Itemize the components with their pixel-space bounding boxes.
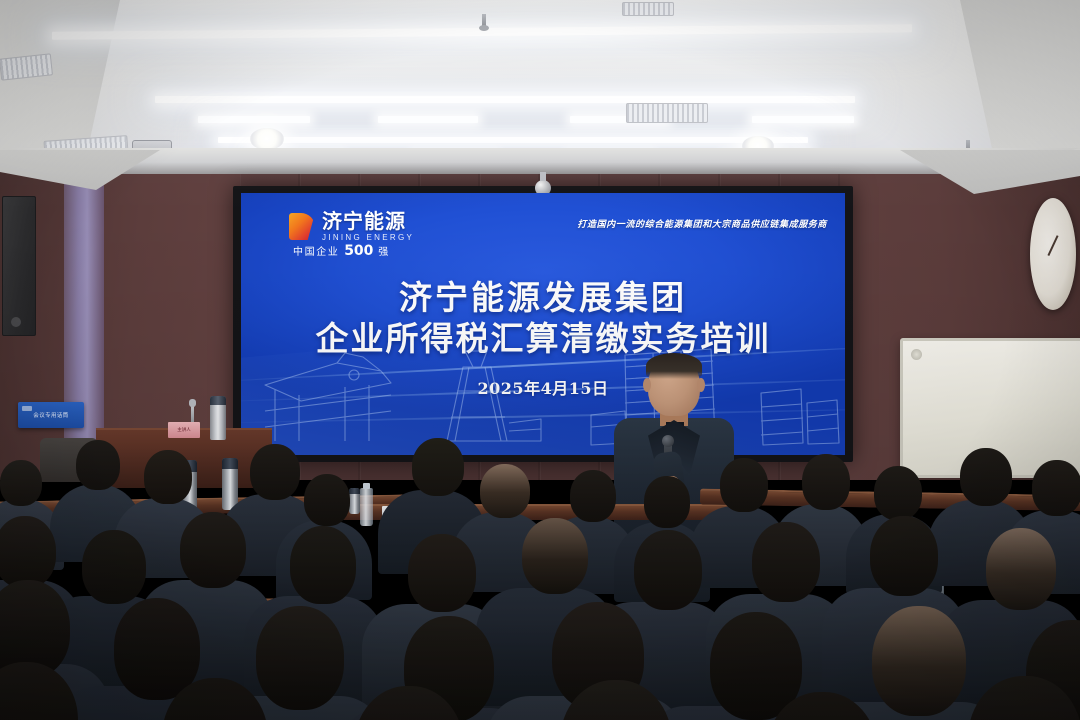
water-bottle	[360, 488, 373, 526]
podium-sign: 会议专用话筒	[18, 402, 84, 428]
wall-speaker	[2, 196, 36, 336]
screen-tagline: 打造国内一流的综合能源集团和大宗商品供应链集成服务商	[577, 217, 827, 230]
presenter-ear-left	[643, 378, 651, 392]
logo-mark-icon	[289, 213, 315, 240]
led-light-row	[0, 116, 1080, 123]
thermos-tumbler	[222, 458, 238, 510]
presenter-hair	[646, 353, 702, 379]
presenter-ear-right	[697, 378, 705, 392]
hvac-vent	[626, 103, 708, 123]
presentation-screen: 济宁能源 JINING ENERGY 中国企业 500 强 打造国内一流的综合能…	[241, 193, 845, 455]
logo-name-en: JINING ENERGY	[322, 234, 414, 242]
logo-award-badge: 中国企业 500 强	[293, 243, 390, 259]
audience	[0, 430, 1080, 720]
logo-name-zh: 济宁能源	[322, 211, 414, 231]
wall-clock	[1030, 198, 1076, 310]
mine-headframe-line-art	[447, 351, 541, 441]
jining-energy-logo: 济宁能源 JINING ENERGY	[289, 211, 414, 242]
thermos-tumbler	[349, 488, 360, 514]
logo-award-text: 中国企业	[293, 247, 339, 258]
conference-photo-scene: 济宁能源 JINING ENERGY 中国企业 500 强 打造国内一流的综合能…	[0, 0, 1080, 720]
logo-award-suffix: 强	[378, 247, 390, 258]
hvac-vent	[622, 2, 674, 16]
screen-title-line1: 济宁能源发展集团	[241, 279, 845, 317]
logo-award-rank: 500	[344, 243, 373, 259]
recessed-downlight	[250, 128, 284, 150]
sprinkler-head	[482, 14, 486, 27]
led-light-strip	[155, 96, 855, 103]
podium-sign-text: 会议专用话筒	[33, 411, 68, 419]
port-crane-line-art	[265, 353, 391, 441]
led-light-strip	[218, 137, 808, 143]
whiteboard-knob-icon	[911, 349, 922, 360]
